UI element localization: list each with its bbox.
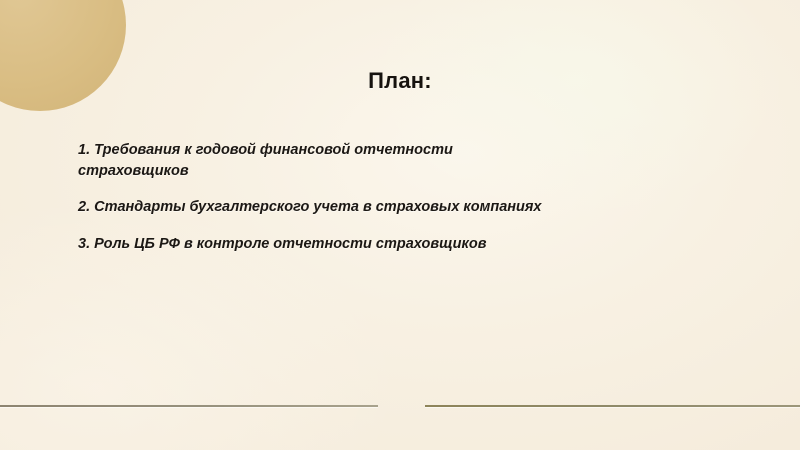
plan-list-item-2: 2. Стандарты бухгалтерского учета в стра…	[78, 197, 548, 218]
decorative-circle-bottom-right	[733, 255, 800, 367]
decorative-circle-top-left	[0, 0, 126, 111]
plan-list-item-3: 3. Роль ЦБ РФ в контроле отчетности стра…	[78, 234, 548, 255]
slide-title: План:	[0, 68, 800, 94]
plan-list: 1. Требования к годовой финансовой отчет…	[78, 140, 548, 254]
presentation-slide: План: 1. Требования к годовой финансовой…	[0, 0, 800, 450]
footer-rule-left	[0, 405, 378, 407]
plan-list-item-1: 1. Требования к годовой финансовой отчет…	[78, 140, 548, 181]
footer-rule-right	[425, 405, 800, 407]
